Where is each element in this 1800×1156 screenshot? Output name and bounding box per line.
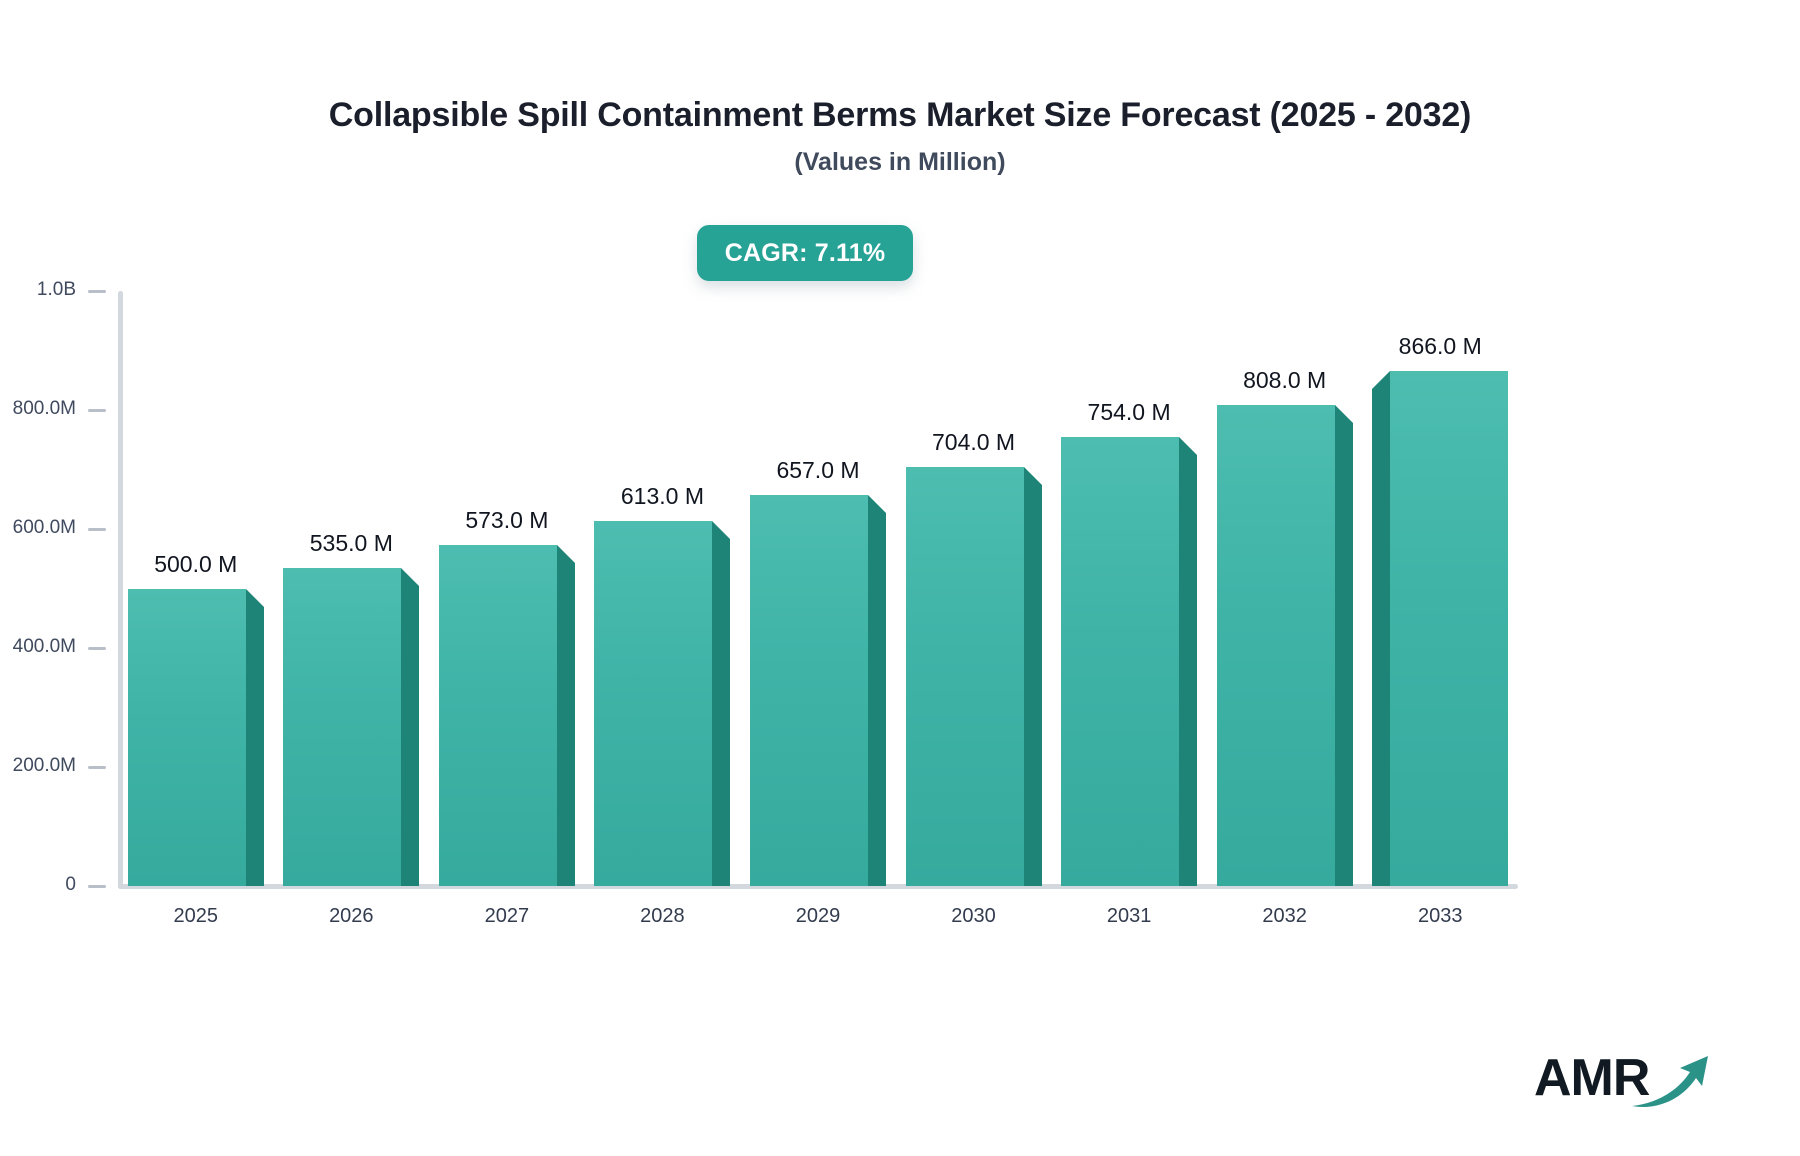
bar-value-label: 657.0 M [740, 457, 896, 484]
bar-front-face [1390, 371, 1508, 886]
bar-front-face [1217, 405, 1335, 886]
bar-front-face [750, 495, 868, 886]
bar-value-label: 613.0 M [585, 483, 741, 510]
y-tick-label: 200.0M [0, 755, 76, 777]
bar-value-label: 704.0 M [896, 429, 1052, 456]
x-axis-line [118, 884, 1518, 889]
bar-value-label: 500.0 M [118, 551, 274, 578]
bar-side-face [1179, 455, 1197, 886]
bar-front-face [594, 521, 712, 886]
bar-front-face [128, 589, 246, 887]
bar-front-face [439, 545, 557, 886]
y-tick-mark [88, 766, 106, 769]
cagr-badge: CAGR: 7.11% [697, 225, 913, 281]
bar-front-face [1061, 437, 1179, 886]
bar-top-face [401, 568, 419, 586]
bar-side-face [401, 586, 419, 886]
bar-side-face [712, 539, 730, 886]
bar-side-face [1335, 423, 1353, 886]
x-tick-label: 2027 [429, 905, 585, 928]
bar-top-face [557, 545, 575, 563]
bar-front-face [906, 467, 1024, 886]
bar-top-face [1179, 437, 1197, 455]
y-tick-mark [88, 885, 106, 888]
x-tick-label: 2033 [1362, 905, 1518, 928]
amr-logo: AMR [1534, 1048, 1709, 1118]
bar-top-face [1372, 371, 1390, 389]
bar-side-face [868, 513, 886, 886]
y-tick-label: 0 [0, 874, 76, 896]
bar-side-face [557, 563, 575, 886]
chart-canvas: Collapsible Spill Containment Berms Mark… [0, 0, 1800, 1156]
y-tick-mark [88, 290, 106, 293]
y-tick-label: 400.0M [0, 636, 76, 658]
chart-subtitle: (Values in Million) [0, 148, 1800, 177]
growth-arrow-icon [1630, 1054, 1714, 1114]
bar-value-label: 754.0 M [1051, 399, 1207, 426]
x-tick-label: 2030 [896, 905, 1052, 928]
x-tick-label: 2031 [1051, 905, 1207, 928]
chart-title: Collapsible Spill Containment Berms Mark… [0, 96, 1800, 135]
bar-value-label: 866.0 M [1362, 333, 1518, 360]
bar-value-label: 535.0 M [274, 530, 430, 557]
y-tick-mark [88, 528, 106, 531]
bar-front-face [283, 568, 401, 886]
bar-top-face [868, 495, 886, 513]
y-tick-label: 600.0M [0, 517, 76, 539]
bar-value-label: 573.0 M [429, 507, 585, 534]
x-tick-label: 2028 [585, 905, 741, 928]
bar-side-face [1024, 485, 1042, 886]
y-tick-label: 1.0B [0, 279, 76, 301]
y-axis-line [118, 291, 123, 889]
y-tick-mark [88, 647, 106, 650]
x-tick-label: 2025 [118, 905, 274, 928]
bar-top-face [712, 521, 730, 539]
cagr-badge-label: CAGR: 7.11% [725, 239, 886, 268]
y-tick-mark [88, 409, 106, 412]
bar-side-face [246, 607, 264, 887]
bar-side-face [1372, 389, 1390, 886]
x-tick-label: 2032 [1207, 905, 1363, 928]
bar-top-face [246, 589, 264, 607]
y-tick-label: 800.0M [0, 398, 76, 420]
x-tick-label: 2026 [274, 905, 430, 928]
bar-top-face [1024, 467, 1042, 485]
bar-value-label: 808.0 M [1207, 367, 1363, 394]
bar-top-face [1335, 405, 1353, 423]
x-tick-label: 2029 [740, 905, 896, 928]
